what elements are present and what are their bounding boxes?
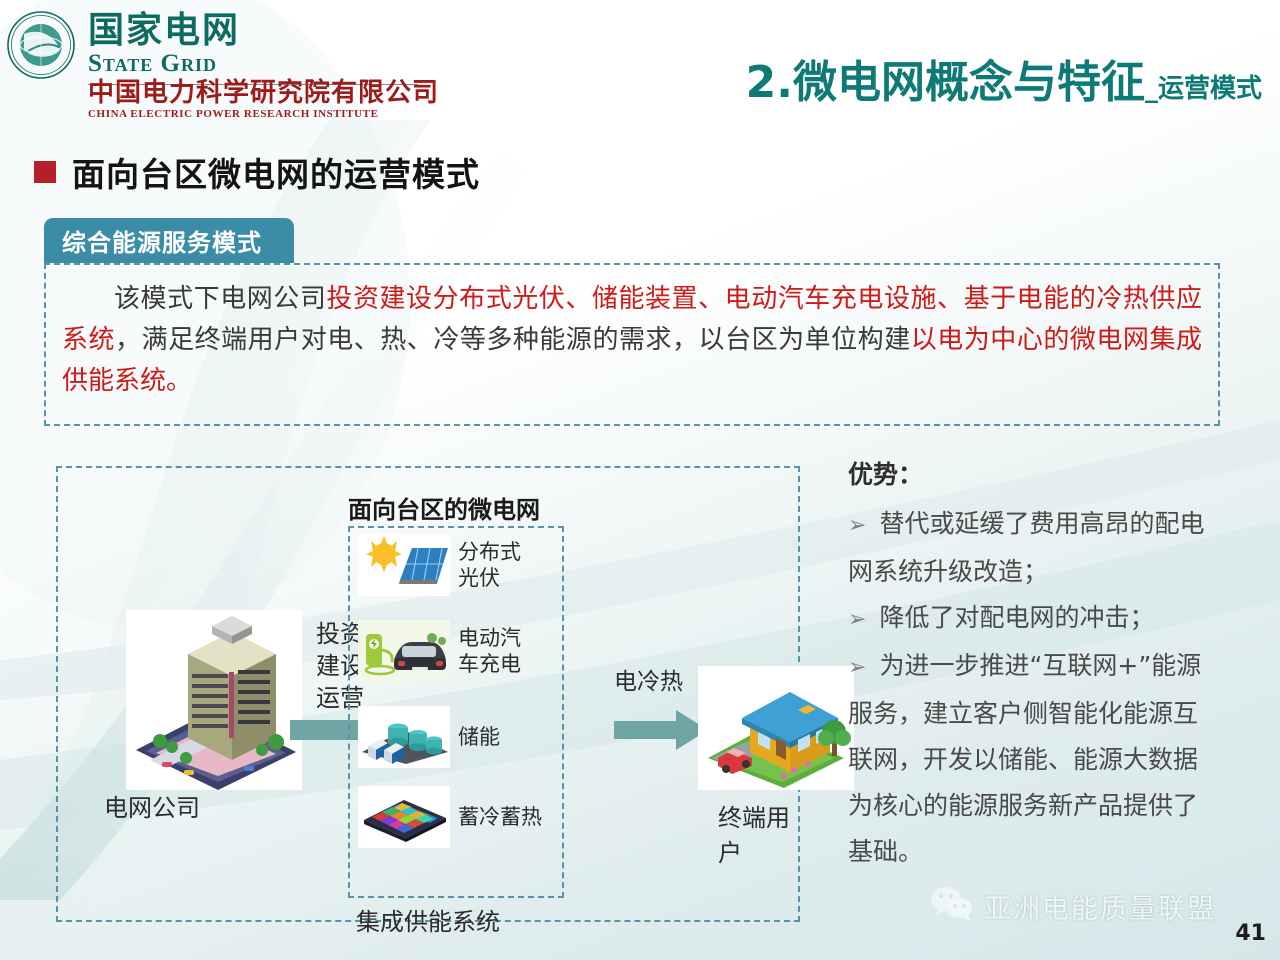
page-title-sub: _运营模式	[1145, 74, 1262, 104]
square-bullet-icon	[34, 161, 56, 183]
slide-canvas: 国家电网 State Grid 中国电力科学研究院有限公司 CHINA ELEC…	[0, 0, 1280, 960]
page-title: 2.微电网概念与特征_运营模式	[746, 46, 1262, 110]
brand-name-en: State Grid	[88, 50, 240, 78]
section-heading: 面向台区微电网的运营模式	[34, 148, 480, 196]
advantages-block: 优势： ➢ 替代或延缓了费用高昂的配电网系统升级改造；➢ 降低了对配电网的冲击；…	[848, 455, 1218, 875]
advantage-item-text-1: 替代或延缓了费用高昂的配电网系统升级改造；	[848, 509, 1204, 586]
brand-name-cn: 国家电网	[88, 12, 240, 50]
ev-charging-icon	[358, 620, 450, 682]
advantage-item-3: ➢ 为进一步推进“互联网+”能源服务，建立客户侧智能化能源互联网，开发以储能、能…	[848, 643, 1218, 875]
section-heading-text: 面向台区微电网的运营模式	[72, 148, 480, 196]
right-arrow-icon-2	[614, 708, 710, 757]
advantages-list: ➢ 替代或延缓了费用高昂的配电网系统升级改造；➢ 降低了对配电网的冲击；➢ 为进…	[848, 501, 1218, 875]
arrow-bullet-icon: ➢	[848, 655, 879, 680]
page-number: 41	[1235, 921, 1266, 946]
institute-name-en: CHINA ELECTRIC POWER RESEARCH INSTITUTE	[88, 108, 379, 120]
house-icon	[698, 666, 854, 790]
solar-panel-icon	[358, 534, 450, 596]
state-grid-globe-icon	[4, 8, 78, 82]
watermark: 亚洲电能质量联盟	[930, 886, 1216, 927]
microgrid-item-storage: 储能	[358, 706, 500, 768]
flow-right-label: 电冷热	[614, 662, 683, 696]
microgrid-item-storage-label: 储能	[458, 724, 500, 750]
description-box: 该模式下电网公司投资建设分布式光伏、储能装置、电动汽车充电设施、基于电能的冷热供…	[44, 263, 1220, 426]
advantages-title: 优势：	[848, 455, 1218, 491]
microgrid-item-thermal: 蓄冷蓄热	[358, 786, 542, 848]
institute-name-cn: 中国电力科学研究院有限公司	[88, 78, 439, 108]
grid-company-label: 电网公司	[104, 788, 200, 823]
brand-wordmark: 国家电网 State Grid	[88, 12, 240, 78]
slide-header: 国家电网 State Grid 中国电力科学研究院有限公司 CHINA ELEC…	[0, 0, 1280, 128]
microgrid-item-thermal-label: 蓄冷蓄热	[458, 804, 542, 830]
thermal-storage-icon	[358, 786, 450, 848]
advantage-item-1: ➢ 替代或延缓了费用高昂的配电网系统升级改造；	[848, 501, 1218, 595]
microgrid-title: 面向台区的微电网	[348, 490, 540, 525]
end-user-label: 终端用户	[718, 798, 798, 868]
microgrid-item-ev-label: 电动汽车充电	[458, 625, 521, 677]
wechat-icon	[930, 886, 974, 927]
mode-tag-label: 综合能源服务模式	[62, 223, 262, 258]
microgrid-item-ev: 电动汽车充电	[358, 620, 521, 682]
office-building-icon	[126, 610, 302, 790]
microgrid-item-pv: 分布式光伏	[358, 534, 521, 596]
advantage-item-2: ➢ 降低了对配电网的冲击；	[848, 595, 1218, 643]
microgrid-footer-label: 集成供能系统	[356, 902, 500, 937]
arrow-bullet-icon: ➢	[848, 607, 879, 632]
diagram-container: 电网公司 投资 建设 运营 面向台区的微电网	[56, 466, 800, 922]
microgrid-item-pv-label: 分布式光伏	[458, 539, 521, 591]
battery-storage-icon	[358, 706, 450, 768]
arrow-bullet-icon: ➢	[848, 513, 879, 538]
advantage-item-text-2: 降低了对配电网的冲击；	[879, 603, 1154, 632]
description-segment-2: ，满足终端用户对电、热、冷等多种能源的需求，以台区为单位构建	[115, 325, 911, 355]
mode-tag: 综合能源服务模式	[44, 218, 294, 263]
description-paragraph: 该模式下电网公司投资建设分布式光伏、储能装置、电动汽车充电设施、基于电能的冷热供…	[62, 279, 1202, 402]
description-segment-0: 该模式下电网公司	[114, 284, 326, 314]
watermark-text: 亚洲电能质量联盟	[984, 887, 1216, 926]
advantage-item-text-3: 为进一步推进“互联网+”能源服务，建立客户侧智能化能源互联网，开发以储能、能源大…	[848, 651, 1201, 866]
page-title-main: 2.微电网概念与特征	[746, 57, 1145, 108]
